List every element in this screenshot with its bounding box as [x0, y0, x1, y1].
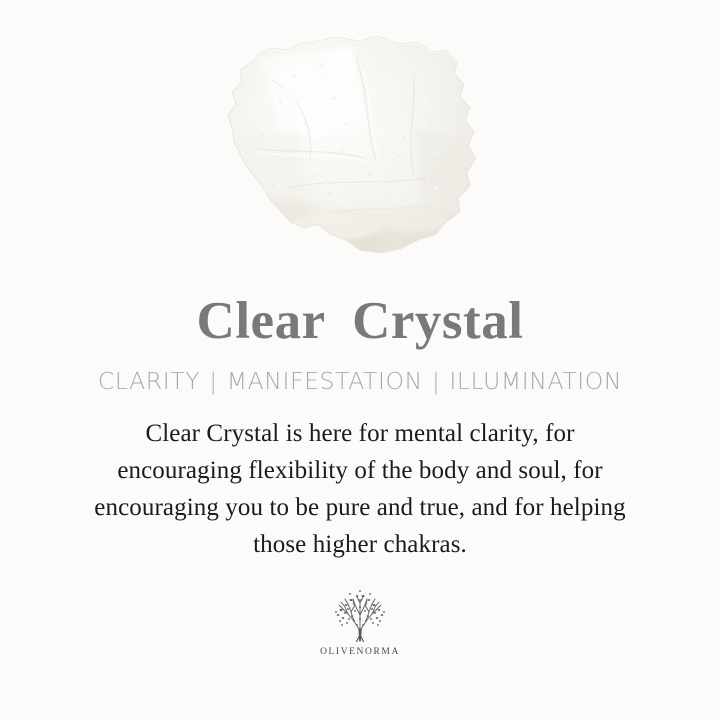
description-line: encouraging flexibility of the body and … — [45, 452, 675, 489]
product-info-card: Clear Crystal CLARITY | MANIFESTATION | … — [0, 0, 720, 720]
description-line: Clear Crystal is here for mental clarity… — [45, 415, 675, 452]
description-line: encouraging you to be pure and true, and… — [45, 489, 675, 526]
keyword-illumination: ILLUMINATION — [449, 366, 622, 396]
product-image-area — [0, 0, 720, 292]
brand-logo: OLIVENORMA — [320, 585, 400, 657]
description-line: those higher chakras. — [45, 526, 675, 563]
keyword-clarity: CLARITY — [98, 366, 200, 396]
clear-quartz-crystal-image — [218, 28, 486, 268]
olive-tree-icon — [324, 585, 396, 645]
keyword-list: CLARITY | MANIFESTATION | ILLUMINATION — [98, 366, 622, 396]
page-title: Clear Crystal — [197, 292, 524, 350]
keyword-separator: | — [423, 366, 450, 396]
product-description: Clear Crystal is here for mental clarity… — [45, 415, 675, 563]
keyword-separator: | — [200, 366, 227, 396]
keyword-manifestation: MANIFESTATION — [227, 366, 423, 396]
brand-name: OLIVENORMA — [320, 647, 400, 657]
